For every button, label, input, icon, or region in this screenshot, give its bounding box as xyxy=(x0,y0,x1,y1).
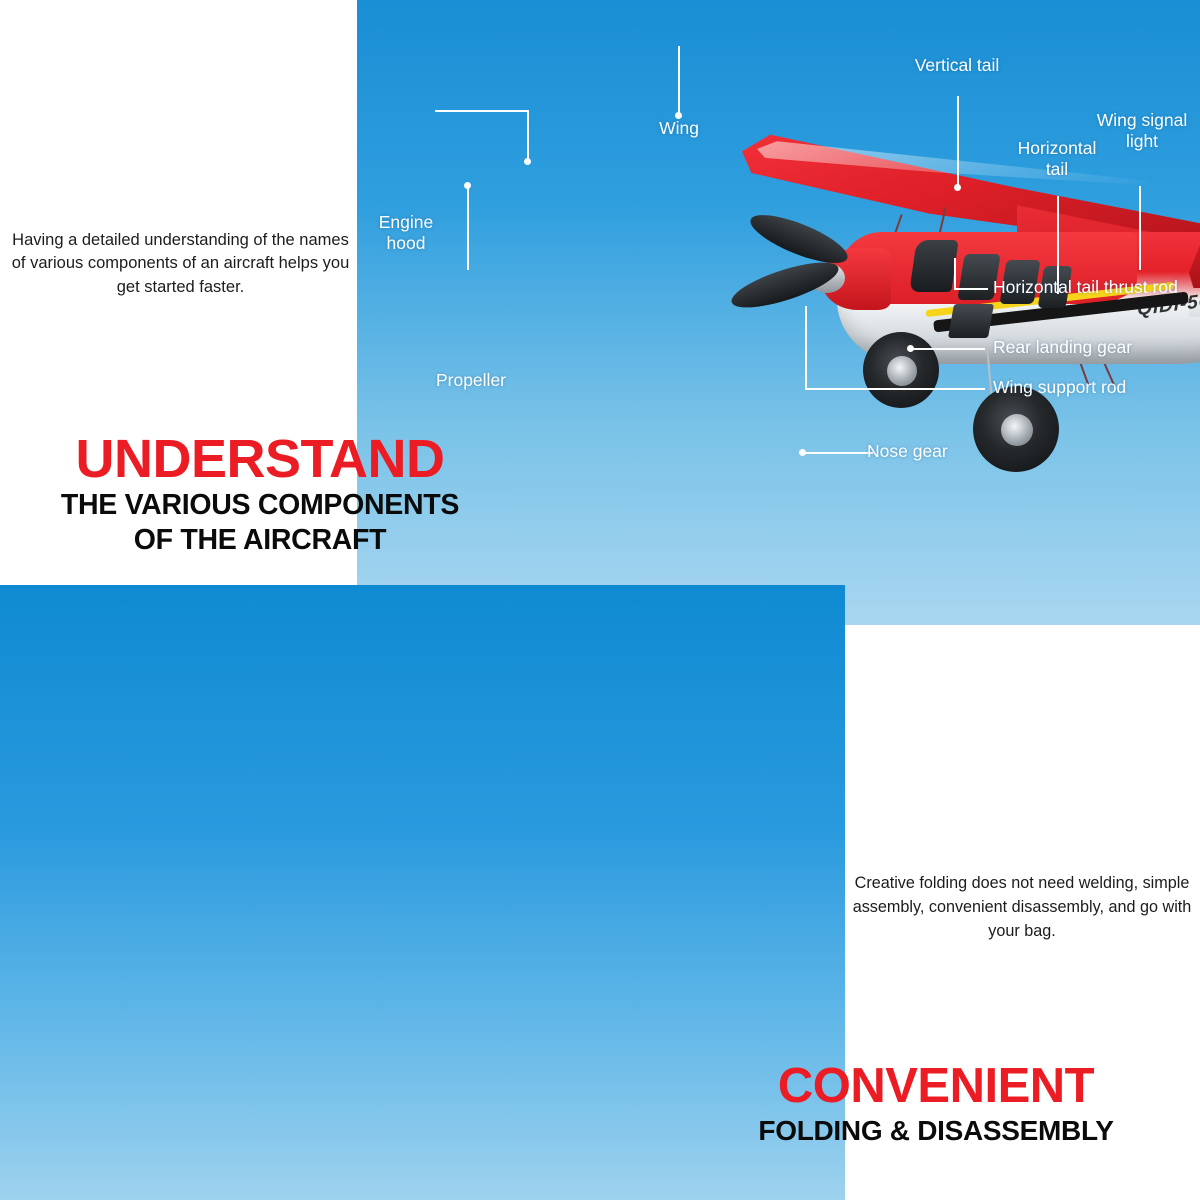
callout-vertical-tail: Vertical tail xyxy=(862,55,1052,76)
main-gear-hub-left xyxy=(887,356,917,386)
leader-line-propeller xyxy=(467,188,469,270)
leader-dot-rear-gear xyxy=(907,345,914,352)
leader-line-hstab-rod-h xyxy=(954,288,988,290)
propeller-blade-upper xyxy=(745,206,853,273)
leader-dot-engine-hood xyxy=(524,158,531,165)
leader-dot-nose-gear xyxy=(799,449,806,456)
assembled-aircraft-illustration: Skyline QIDI-500 xyxy=(737,120,1200,480)
callout-wing-signal-light: Wing signal light xyxy=(1069,110,1200,152)
convenient-paragraph: Creative folding does not need welding, … xyxy=(848,872,1196,944)
leader-line-wing-support-rod-v xyxy=(805,306,807,388)
callout-rear-landing-gear: Rear landing gear xyxy=(993,337,1200,358)
leader-line-engine-hood-v xyxy=(527,110,529,162)
leader-line-wing-support-rod xyxy=(805,388,985,390)
callout-nose-gear: Nose gear xyxy=(867,441,1067,462)
convenient-headline-primary: CONVENIENT xyxy=(672,1062,1200,1112)
callout-horizontal-tail-thrust-rod: Horizontal tail thrust rod xyxy=(993,277,1200,298)
leader-line-nose-gear xyxy=(805,452,873,454)
leader-line-vertical-tail xyxy=(957,96,959,190)
understand-headline-line2: OF THE AIRCRAFT xyxy=(0,525,520,557)
leader-line-hstab-rod-v xyxy=(954,258,956,288)
leader-line-rear-gear xyxy=(913,348,985,350)
callout-propeller: Propeller xyxy=(411,370,531,391)
understand-headline-primary: UNDERSTAND xyxy=(0,432,520,487)
understand-paragraph: Having a detailed understanding of the n… xyxy=(8,229,353,301)
callout-engine-hood: Engine hood xyxy=(371,212,441,254)
convenient-headline-group: CONVENIENT FOLDING & DISASSEMBLY xyxy=(672,1062,1200,1146)
leader-line-wing-signal-light xyxy=(1139,186,1141,270)
leader-line-wing xyxy=(678,46,680,118)
leader-line-engine-hood-h xyxy=(435,110,529,112)
cockpit-canopy xyxy=(909,240,958,292)
callout-wing-support-rod: Wing support rod xyxy=(993,377,1200,398)
understand-headline-line1: THE VARIOUS COMPONENTS xyxy=(0,490,520,522)
leader-dot-propeller xyxy=(464,182,471,189)
understand-headline-group: UNDERSTAND THE VARIOUS COMPONENTS OF THE… xyxy=(0,432,520,557)
convenient-headline-line1: FOLDING & DISASSEMBLY xyxy=(672,1115,1200,1146)
leader-dot-vertical-tail xyxy=(954,184,961,191)
callout-wing: Wing xyxy=(619,118,739,139)
cabin-door-panel xyxy=(948,304,994,338)
infographic-canvas: Skyline QIDI-500 xyxy=(0,0,1200,1200)
